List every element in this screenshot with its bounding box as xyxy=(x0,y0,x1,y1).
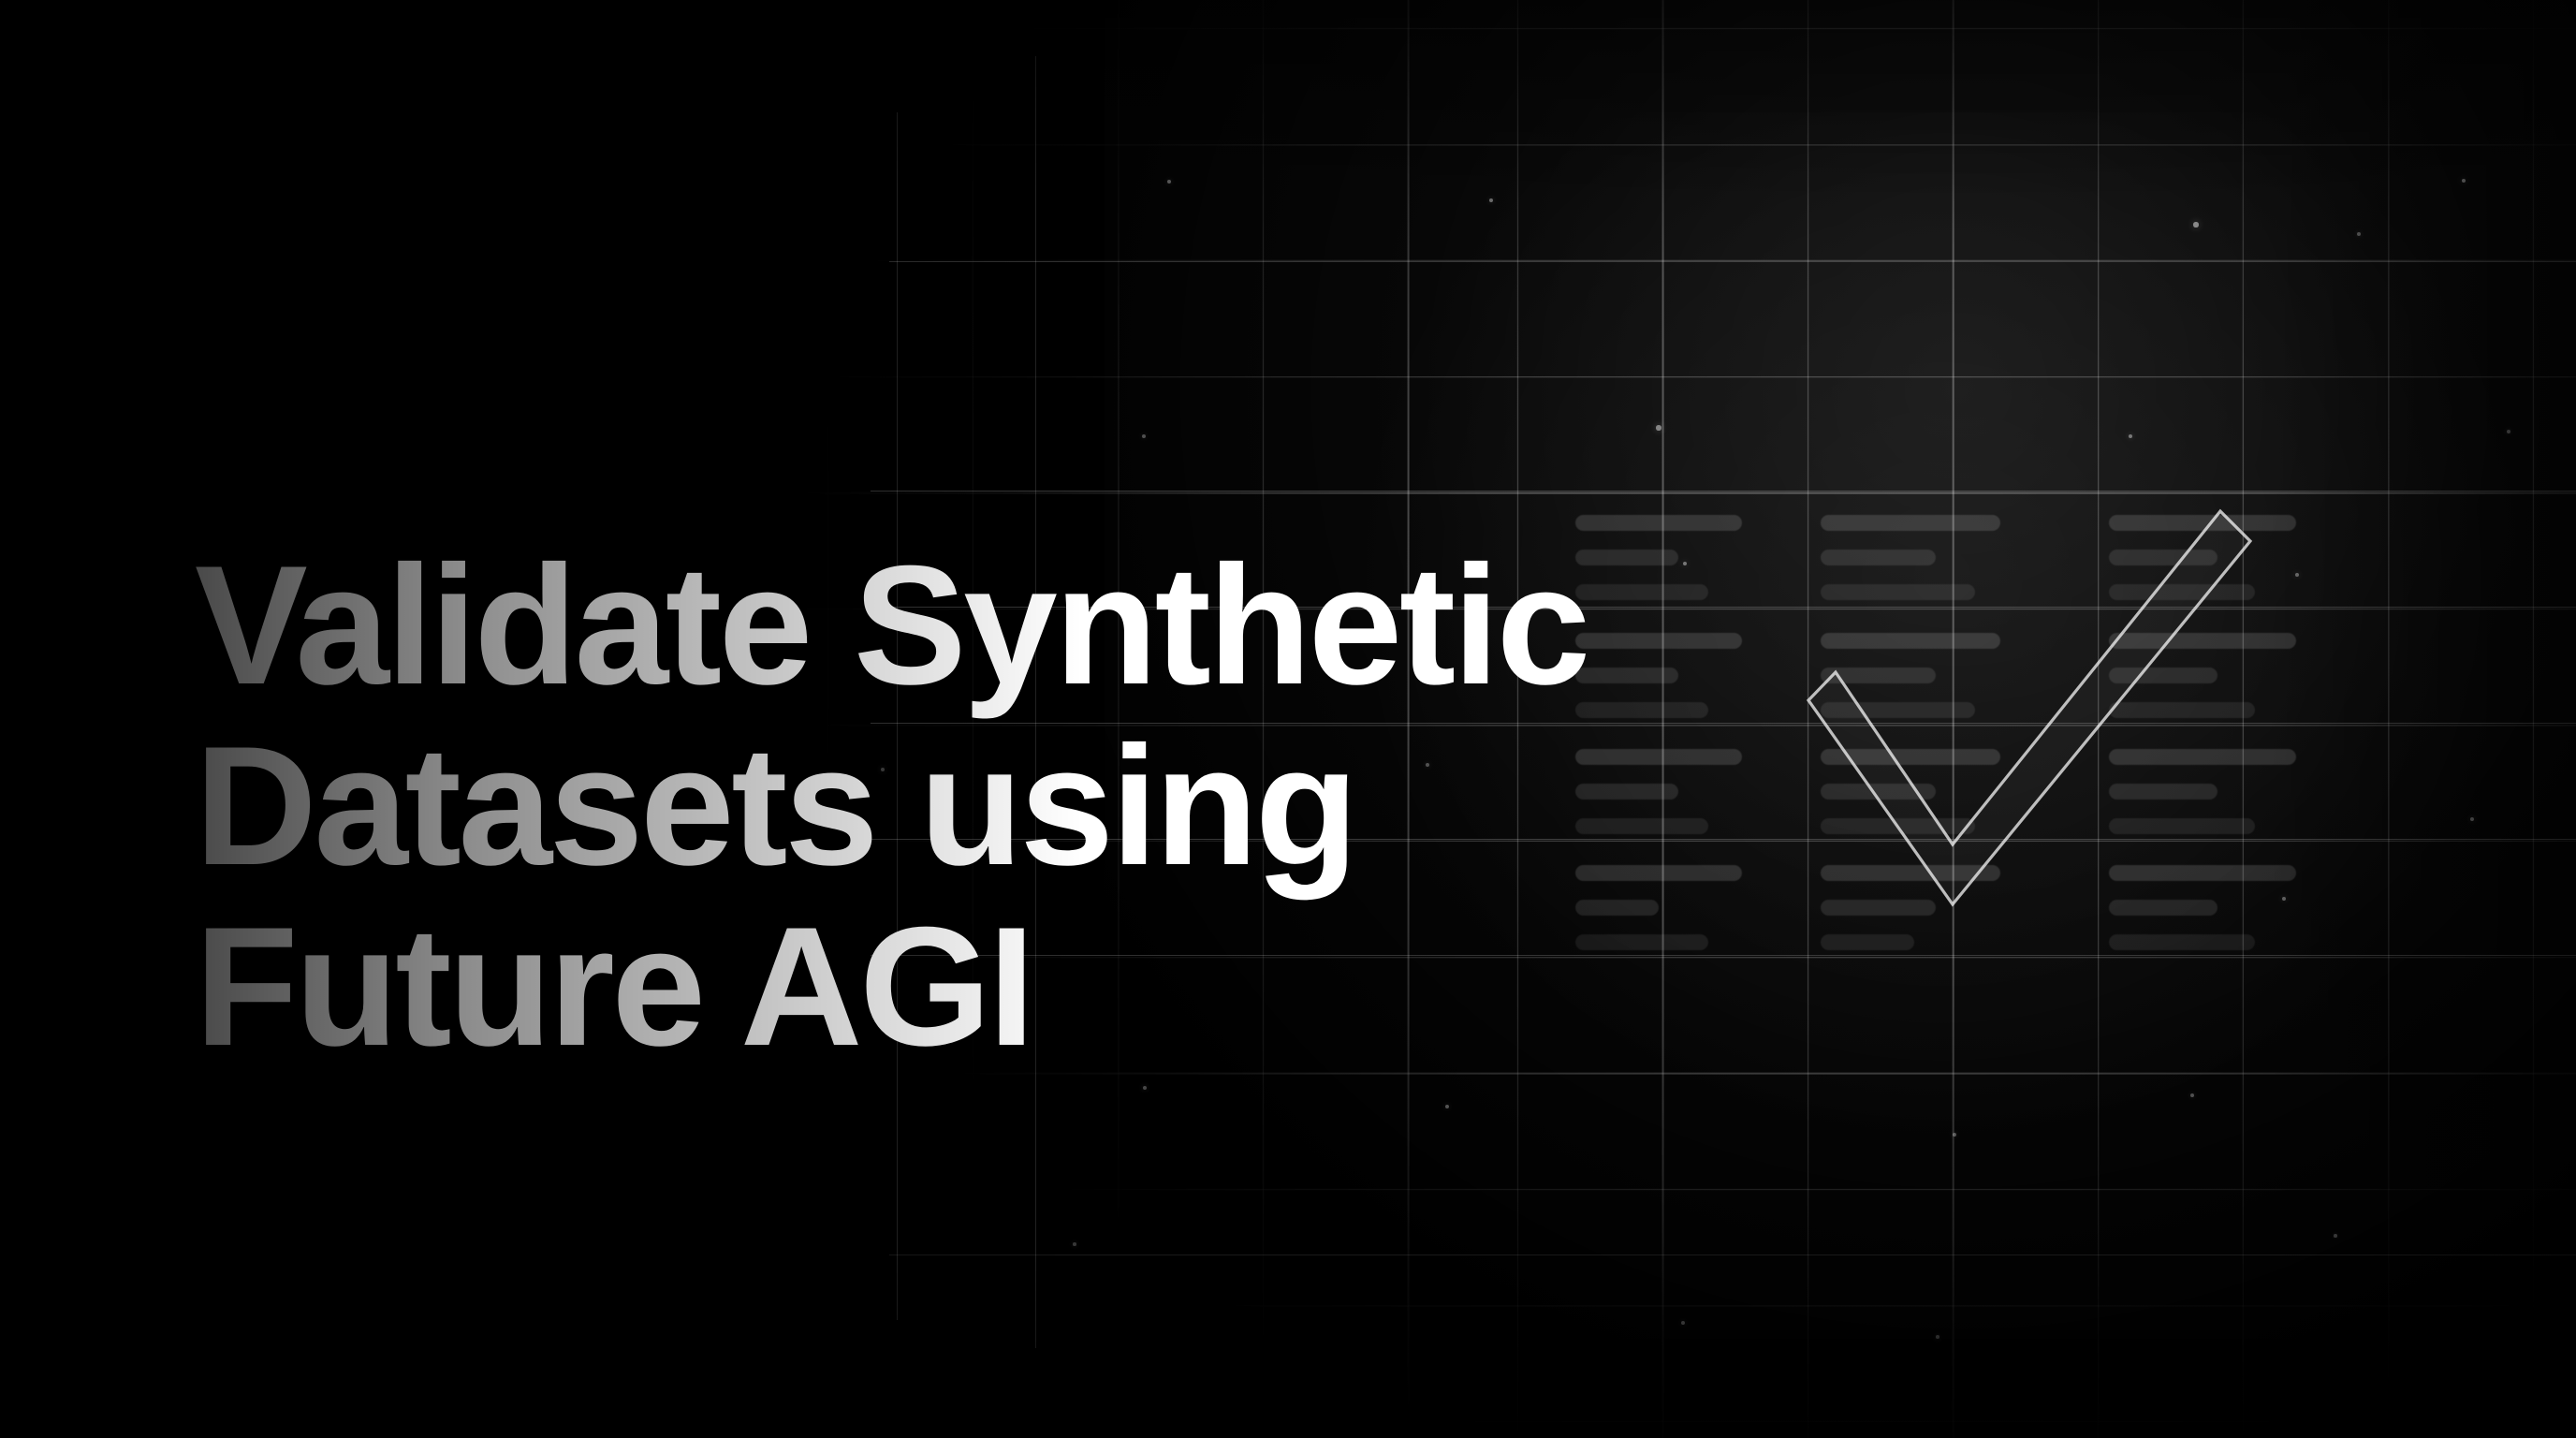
particle-dot xyxy=(2357,232,2361,236)
particle-dot xyxy=(2193,222,2198,227)
hero-canvas: Validate Synthetic Datasets using Future… xyxy=(0,0,2576,1438)
particle-dot xyxy=(1489,198,1493,202)
particle-dot xyxy=(2190,1093,2194,1097)
particle-dot xyxy=(1167,180,1171,183)
doc-column-3 xyxy=(2109,633,2296,737)
doc-column-3 xyxy=(2109,865,2296,969)
doc-line xyxy=(1575,515,1742,531)
doc-line xyxy=(2109,865,2296,881)
particle-dot xyxy=(2462,179,2466,183)
doc-line xyxy=(1821,934,1914,950)
doc-line xyxy=(1821,550,1936,565)
particle-dot xyxy=(2507,430,2510,433)
doc-line xyxy=(2109,900,2217,916)
grid-rule-horizontal-2 xyxy=(871,491,2576,492)
doc-line xyxy=(1821,584,1975,600)
doc-line xyxy=(1821,633,2000,649)
doc-line xyxy=(1821,818,1975,834)
doc-line xyxy=(1821,900,1936,916)
doc-line xyxy=(2109,702,2255,718)
doc-line xyxy=(2109,668,2217,683)
doc-column-3 xyxy=(2109,515,2296,619)
doc-line xyxy=(2109,515,2296,531)
particle-dot xyxy=(1445,1105,1449,1108)
grid-rule-horizontal-7 xyxy=(889,1255,2576,1255)
doc-line xyxy=(1821,749,2000,765)
page-title: Validate Synthetic Datasets using Future… xyxy=(195,536,1617,1078)
doc-column-2 xyxy=(1821,749,2000,853)
doc-column-2 xyxy=(1821,865,2000,969)
grid-rule-horizontal-1 xyxy=(889,261,2576,262)
doc-line xyxy=(2109,934,2255,950)
doc-column-3 xyxy=(2109,749,2296,853)
doc-line xyxy=(2109,818,2255,834)
doc-line xyxy=(1821,784,1936,800)
particle-dot xyxy=(1656,425,1661,430)
particle-dot xyxy=(2334,1234,2337,1238)
doc-line xyxy=(1821,702,1975,718)
particle-dot xyxy=(1681,1321,1685,1325)
doc-line xyxy=(2109,633,2296,649)
particle-dot xyxy=(2129,434,2132,438)
doc-line xyxy=(2109,784,2217,800)
doc-line xyxy=(1821,515,2000,531)
particle-dot xyxy=(2295,573,2299,577)
particle-dot xyxy=(2282,897,2286,901)
particle-dot xyxy=(1142,434,1146,438)
doc-line xyxy=(1821,668,1936,683)
doc-column-2 xyxy=(1821,633,2000,737)
doc-line xyxy=(2109,550,2217,565)
doc-line xyxy=(2109,584,2255,600)
particle-dot xyxy=(1143,1086,1147,1090)
particle-dot xyxy=(1073,1242,1076,1246)
particle-dot xyxy=(1953,1133,1956,1137)
doc-line xyxy=(2109,749,2296,765)
doc-line xyxy=(1821,865,2000,881)
particle-dot xyxy=(1683,562,1688,566)
particle-dot xyxy=(1936,1335,1939,1339)
doc-column-2 xyxy=(1821,515,2000,619)
particle-dot xyxy=(2470,817,2474,821)
